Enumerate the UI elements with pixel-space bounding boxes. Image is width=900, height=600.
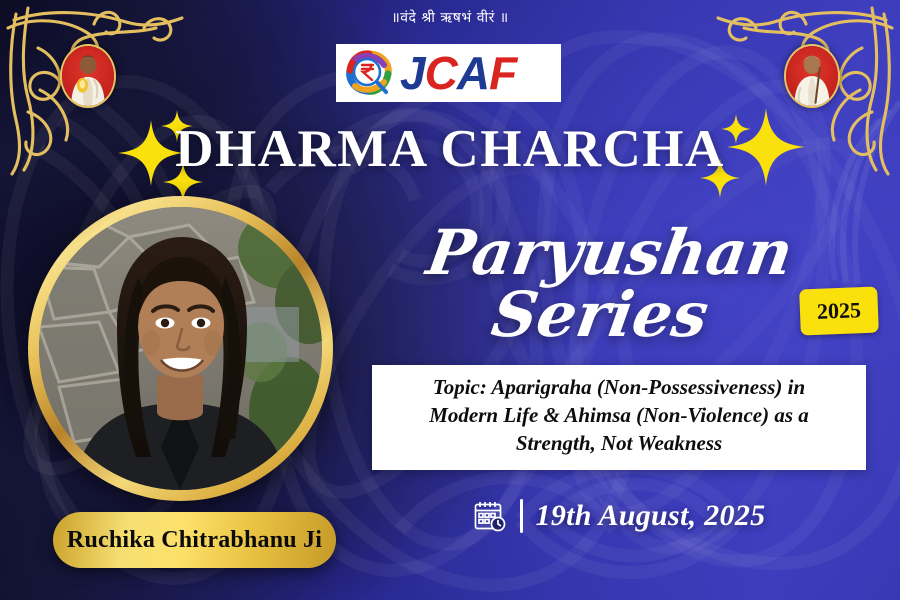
- logo-letter-f: F: [489, 47, 516, 99]
- jcaf-logo: JCAF: [336, 44, 561, 102]
- monk-portrait-left: [60, 44, 116, 108]
- jcaf-atom-rupee-icon: [342, 46, 396, 100]
- monk-portrait-right: [784, 44, 840, 108]
- logo-letter-c: C: [425, 47, 457, 99]
- speaker-name-badge: Ruchika Chitrabhanu Ji: [53, 512, 336, 568]
- page-title: DHARMA CHARCHA: [0, 119, 900, 179]
- topic-line-3: Strength, Not Weakness: [384, 430, 854, 458]
- topic-box: Topic: Aparigraha (Non-Possessiveness) i…: [372, 365, 866, 470]
- logo-letter-j: J: [400, 47, 425, 99]
- speaker-photo-frame: [28, 196, 333, 501]
- sanskrit-invocation: ॥वंदे श्री ऋषभं वीरं ॥: [0, 8, 900, 27]
- jcaf-logo-text: JCAF: [400, 50, 516, 96]
- speaker-portrait-photo: [39, 207, 322, 490]
- poster-canvas: ॥वंदे श्री ऋषभं वीरं ॥: [0, 0, 900, 600]
- topic-line-2: Modern Life & Ahimsa (Non-Violence) as a: [384, 402, 854, 430]
- topic-line-1: Topic: Aparigraha (Non-Possessiveness) i…: [384, 374, 854, 402]
- date-divider: [520, 499, 523, 533]
- series-subtitle: Paryushan Series: [340, 222, 870, 346]
- calendar-clock-icon: [473, 499, 507, 533]
- event-date-row: 19th August, 2025: [372, 492, 866, 540]
- event-date-text: 19th August, 2025: [536, 499, 766, 533]
- logo-letter-a: A: [457, 47, 489, 99]
- year-badge: 2025: [799, 287, 879, 336]
